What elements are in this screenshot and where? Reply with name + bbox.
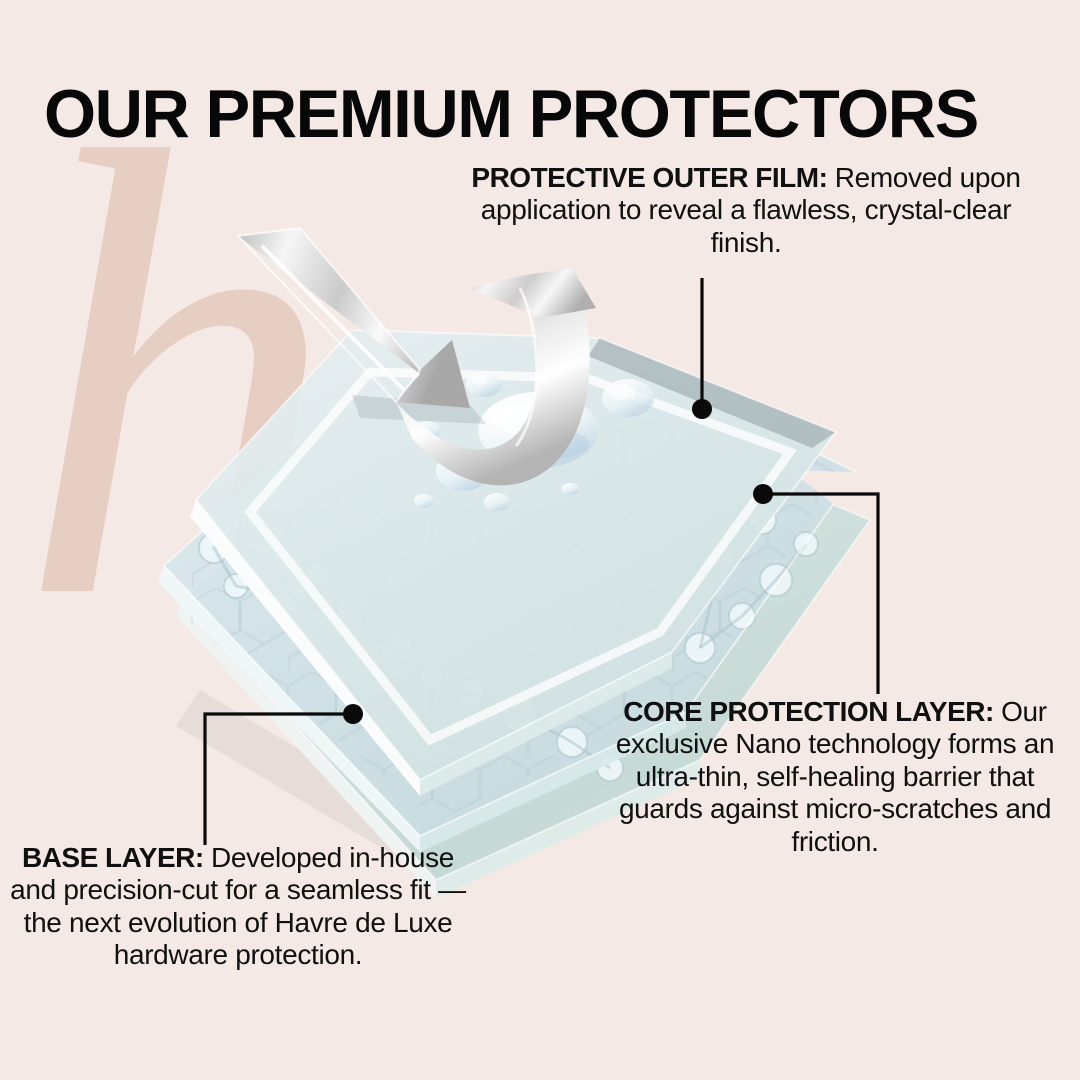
leader-core-protection-layer — [753, 484, 878, 694]
leader-base-layer — [205, 704, 363, 845]
callout-label-protective-outer-film: PROTECTIVE OUTER FILM: — [471, 162, 834, 193]
callout-core-protection-layer: CORE PROTECTION LAYER: Our exclusive Nan… — [604, 696, 1066, 858]
callout-base-layer: BASE LAYER: Developed in-house and preci… — [6, 842, 470, 972]
poster-canvas: h — [0, 0, 1080, 1080]
callout-protective-outer-film: PROTECTIVE OUTER FILM: Removed upon appl… — [462, 162, 1030, 259]
page-title: OUR PREMIUM PROTECTORS — [44, 80, 1029, 148]
callout-label-base-layer: BASE LAYER: — [22, 842, 211, 873]
leader-protective-outer-film — [692, 278, 712, 419]
callout-label-core-protection-layer: CORE PROTECTION LAYER: — [623, 696, 1001, 727]
